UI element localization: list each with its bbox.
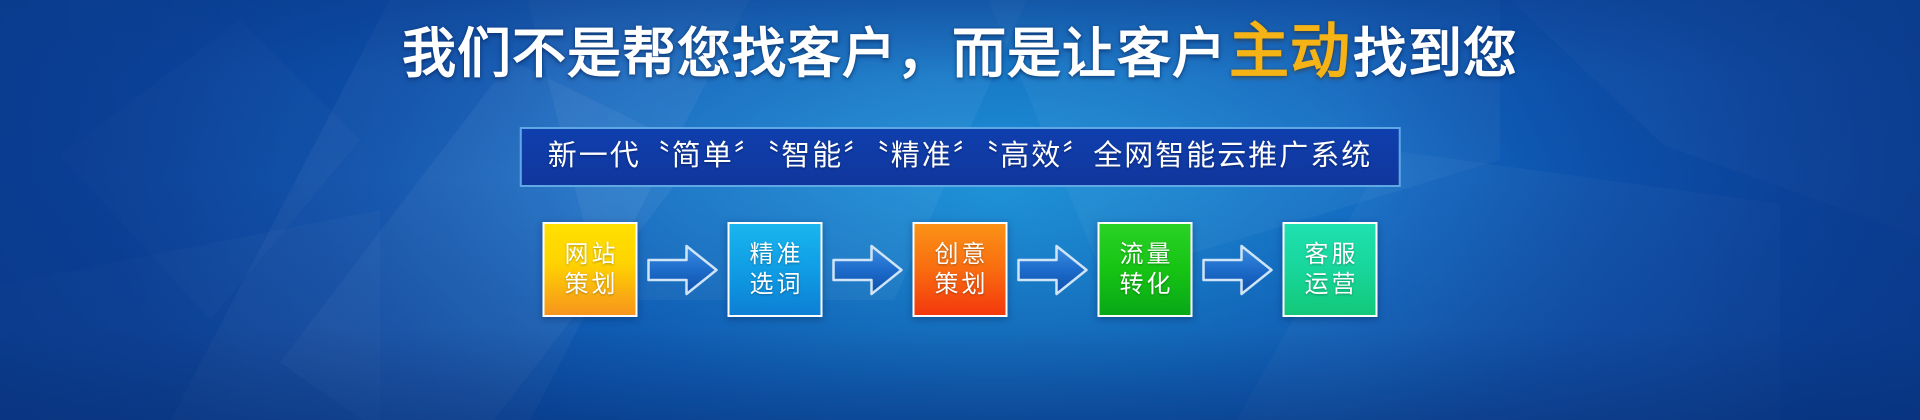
arrow-right-icon bbox=[832, 242, 904, 298]
flow-step-line-2: 策划 bbox=[562, 270, 619, 300]
flow-step-line-2: 转化 bbox=[1117, 270, 1174, 300]
flow-step-line-1: 精准 bbox=[747, 240, 804, 270]
flow-step-line-1: 网站 bbox=[562, 240, 619, 270]
arrow-right-icon bbox=[1017, 242, 1089, 298]
headline-part-2: 找到您 bbox=[1353, 24, 1518, 84]
promo-banner: 我们不是帮您找客户，而是让客户主动找到您 新一代〝简单〞〝智能〞〝精准〞〝高效〞… bbox=[0, 0, 1920, 420]
headline-highlight: 主动 bbox=[1227, 18, 1353, 85]
flow-step-line-2: 策划 bbox=[932, 270, 989, 300]
flow-step-line-1: 流量 bbox=[1117, 240, 1174, 270]
headline-part-1: 我们不是帮您找客户，而是让客户 bbox=[402, 24, 1227, 84]
flow-step-creative-planning[interactable]: 创意 策划 bbox=[913, 222, 1008, 317]
flow-step-keyword-selection[interactable]: 精准 选词 bbox=[728, 222, 823, 317]
subtitle-bar: 新一代〝简单〞〝智能〞〝精准〞〝高效〞全网智能云推广系统 bbox=[520, 127, 1401, 187]
process-flow: 网站 策划 精准 选词 bbox=[543, 222, 1378, 317]
subtitle-text: 新一代〝简单〞〝智能〞〝精准〞〝高效〞全网智能云推广系统 bbox=[548, 140, 1373, 172]
headline: 我们不是帮您找客户，而是让客户主动找到您 bbox=[0, 18, 1920, 88]
flow-step-line-1: 创意 bbox=[932, 240, 989, 270]
flow-step-line-2: 运营 bbox=[1302, 270, 1359, 300]
arrow-right-icon bbox=[647, 242, 719, 298]
flow-step-website-planning[interactable]: 网站 策划 bbox=[543, 222, 638, 317]
flow-step-line-1: 客服 bbox=[1302, 240, 1359, 270]
flow-step-traffic-conversion[interactable]: 流量 转化 bbox=[1098, 222, 1193, 317]
arrow-right-icon bbox=[1202, 242, 1274, 298]
flow-step-customer-service[interactable]: 客服 运营 bbox=[1283, 222, 1378, 317]
flow-step-line-2: 选词 bbox=[747, 270, 804, 300]
